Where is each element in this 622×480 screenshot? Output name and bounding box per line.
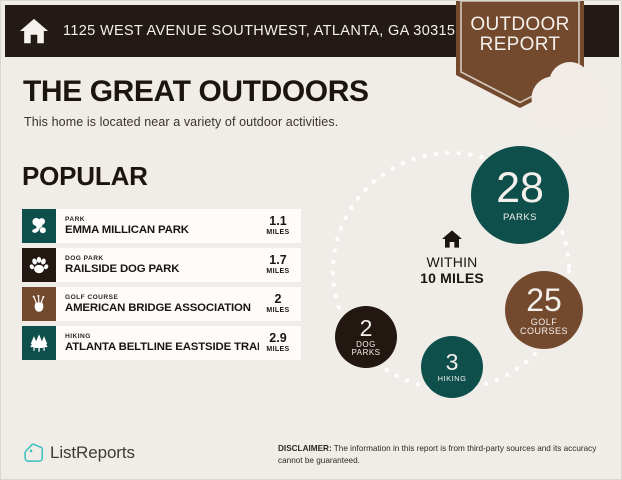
diagram-center: WITHIN 10 MILES xyxy=(397,229,507,286)
tree-icon xyxy=(506,61,622,169)
list-item-distance: 2.9 MILES xyxy=(259,326,301,360)
list-item-name: RAILSIDE DOG PARK xyxy=(65,263,259,276)
list-item-distance: 2 MILES xyxy=(259,287,301,321)
paw-print-icon xyxy=(22,248,56,282)
list-item-distance: 1.7 MILES xyxy=(259,248,301,282)
center-miles-label: 10 MILES xyxy=(397,270,507,286)
bubble-golf-label: GOLF COURSES xyxy=(520,318,568,337)
center-within-label: WITHIN xyxy=(397,254,507,270)
list-item-category: DOG PARK xyxy=(65,254,259,263)
pine-trees-icon xyxy=(22,326,56,360)
house-icon xyxy=(441,229,463,249)
page-subtitle: This home is located near a variety of o… xyxy=(24,115,338,129)
listreports-house-icon xyxy=(23,442,44,463)
list-item-name: AMERICAN BRIDGE ASSOCIATION xyxy=(65,302,259,315)
distance-unit: MILES xyxy=(266,267,289,276)
badge-line-2: REPORT xyxy=(456,35,584,55)
bubble-parks-count: 28 xyxy=(496,167,544,210)
list-item-text: PARK EMMA MILLICAN PARK xyxy=(56,209,259,243)
within-10-miles-diagram: 28 PARKS 25 GOLF COURSES 2 DOG PARKS 3 H… xyxy=(319,131,619,421)
distance-value: 2.9 xyxy=(269,332,286,345)
list-item-category: GOLF COURSE xyxy=(65,293,259,302)
outdoor-report-page: 1125 WEST AVENUE SOUTHWEST, ATLANTA, GA … xyxy=(0,0,622,480)
listreports-logo[interactable]: ListReports xyxy=(23,442,135,463)
bubble-hiking-count: 3 xyxy=(446,351,459,374)
listreports-logo-text: ListReports xyxy=(50,443,135,463)
list-item-category: HIKING xyxy=(65,332,259,341)
page-title: THE GREAT OUTDOORS xyxy=(23,75,369,109)
list-item-name: EMMA MILLICAN PARK xyxy=(65,224,259,237)
distance-value: 1.1 xyxy=(269,215,286,228)
list-item[interactable]: PARK EMMA MILLICAN PARK 1.1 MILES xyxy=(22,209,301,243)
disclaimer: DISCLAIMER: The information in this repo… xyxy=(278,443,598,466)
badge-line-1: OUTDOOR xyxy=(456,15,584,35)
bubble-golf-courses[interactable]: 25 GOLF COURSES xyxy=(505,271,583,349)
disclaimer-label: DISCLAIMER: xyxy=(278,444,332,453)
list-item-text: HIKING ATLANTA BELTLINE EASTSIDE TRAIL xyxy=(56,326,259,360)
list-item-name: ATLANTA BELTLINE EASTSIDE TRAIL xyxy=(65,341,259,354)
bubble-golf-label-line-2: COURSES xyxy=(520,327,568,336)
list-item-category: PARK xyxy=(65,215,259,224)
badge-title: OUTDOOR REPORT xyxy=(456,15,584,55)
distance-unit: MILES xyxy=(266,306,289,315)
distance-value: 1.7 xyxy=(269,254,286,267)
distance-unit: MILES xyxy=(266,345,289,354)
list-item-text: GOLF COURSE AMERICAN BRIDGE ASSOCIATION xyxy=(56,287,259,321)
popular-list: PARK EMMA MILLICAN PARK 1.1 MILES xyxy=(22,209,301,365)
bubble-dog-parks[interactable]: 2 DOG PARKS xyxy=(335,306,397,368)
bubble-hiking-label: HIKING xyxy=(438,375,467,383)
bubble-dog-label-line-2: PARKS xyxy=(351,349,380,357)
header-address: 1125 WEST AVENUE SOUTHWEST, ATLANTA, GA … xyxy=(63,23,455,39)
popular-heading: POPULAR xyxy=(22,161,148,192)
list-item[interactable]: GOLF COURSE AMERICAN BRIDGE ASSOCIATION … xyxy=(22,287,301,321)
list-item-distance: 1.1 MILES xyxy=(259,209,301,243)
bubble-hiking[interactable]: 3 HIKING xyxy=(421,336,483,398)
list-item[interactable]: HIKING ATLANTA BELTLINE EASTSIDE TRAIL 2… xyxy=(22,326,301,360)
golf-bag-icon xyxy=(22,287,56,321)
list-item-text: DOG PARK RAILSIDE DOG PARK xyxy=(56,248,259,282)
outdoor-report-badge: OUTDOOR REPORT xyxy=(456,1,584,109)
bubble-dog-label: DOG PARKS xyxy=(351,341,380,358)
bubble-parks-label: PARKS xyxy=(503,213,537,223)
park-tree-icon xyxy=(22,209,56,243)
bubble-golf-count: 25 xyxy=(526,284,562,316)
bubble-dog-count: 2 xyxy=(360,317,373,340)
distance-value: 2 xyxy=(275,293,282,306)
list-item[interactable]: DOG PARK RAILSIDE DOG PARK 1.7 MILES xyxy=(22,248,301,282)
house-icon xyxy=(19,16,49,46)
distance-unit: MILES xyxy=(266,228,289,237)
